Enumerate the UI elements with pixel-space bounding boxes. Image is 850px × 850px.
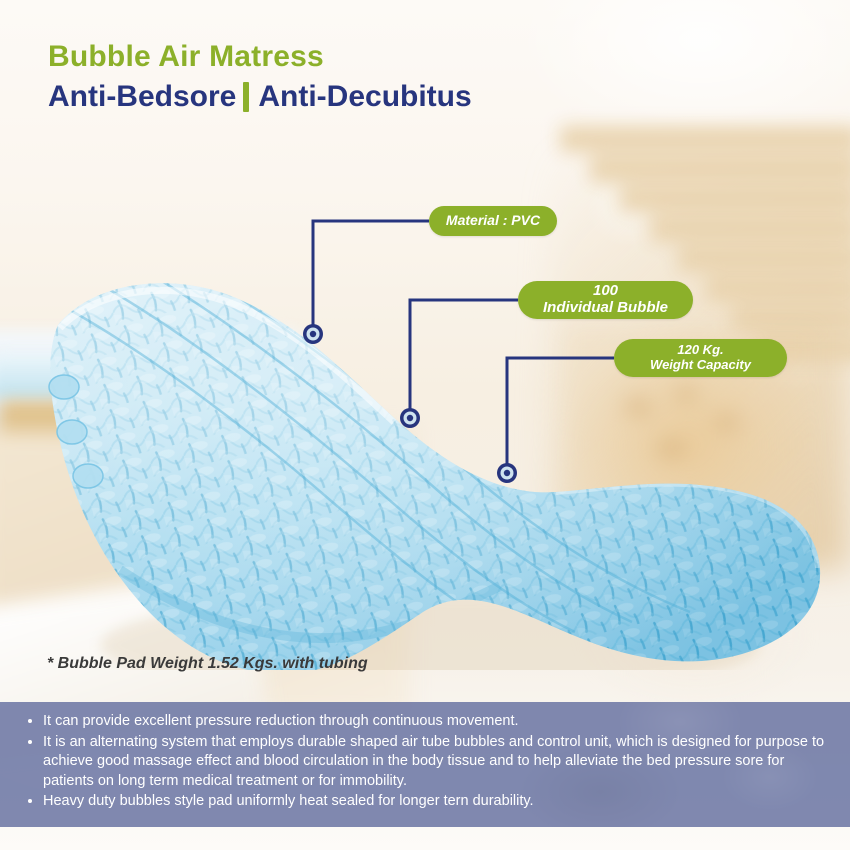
feature-list: It can provide excellent pressure reduct… bbox=[0, 702, 850, 812]
callout-bubble-line2: Individual Bubble bbox=[543, 300, 668, 317]
callout-weight-line1: 120 Kg. bbox=[677, 343, 723, 358]
list-item: It is an alternating system that employs… bbox=[26, 733, 828, 792]
list-item-text: Heavy duty bubbles style pad uniformly h… bbox=[43, 793, 534, 809]
list-item-text: It can provide excellent pressure reduct… bbox=[43, 713, 519, 729]
callout-material[interactable]: Material : PVC bbox=[429, 206, 557, 236]
product-poster: Bubble Air Matress Anti-Bedsore Anti-Dec… bbox=[0, 0, 850, 850]
subtitle-left: Anti-Bedsore bbox=[48, 82, 236, 112]
list-item: It can provide excellent pressure reduct… bbox=[26, 712, 828, 732]
mattress-body bbox=[0, 240, 850, 670]
page-title: Bubble Air Matress bbox=[48, 42, 472, 72]
page-subtitle: Anti-Bedsore Anti-Decubitus bbox=[48, 82, 472, 112]
callout-weight-capacity[interactable]: 120 Kg. Weight Capacity bbox=[614, 339, 787, 377]
bullet-icon bbox=[28, 799, 32, 803]
bullet-icon bbox=[28, 719, 32, 723]
bullet-icon bbox=[28, 740, 32, 744]
list-item: Heavy duty bubbles style pad uniformly h… bbox=[26, 792, 828, 812]
subtitle-divider bbox=[243, 82, 249, 112]
callout-individual-bubble[interactable]: 100 Individual Bubble bbox=[518, 281, 693, 319]
product-image bbox=[0, 140, 850, 670]
feature-banner: It can provide excellent pressure reduct… bbox=[0, 702, 850, 827]
callout-weight-line2: Weight Capacity bbox=[650, 358, 751, 373]
subtitle-right: Anti-Decubitus bbox=[258, 82, 471, 112]
callout-bubble-line1: 100 bbox=[593, 283, 618, 300]
list-item-text: It is an alternating system that employs… bbox=[43, 734, 824, 789]
footnote: * Bubble Pad Weight 1.52 Kgs. with tubin… bbox=[47, 655, 368, 673]
header-block: Bubble Air Matress Anti-Bedsore Anti-Dec… bbox=[48, 42, 472, 112]
callout-material-line1: Material : PVC bbox=[446, 213, 540, 229]
